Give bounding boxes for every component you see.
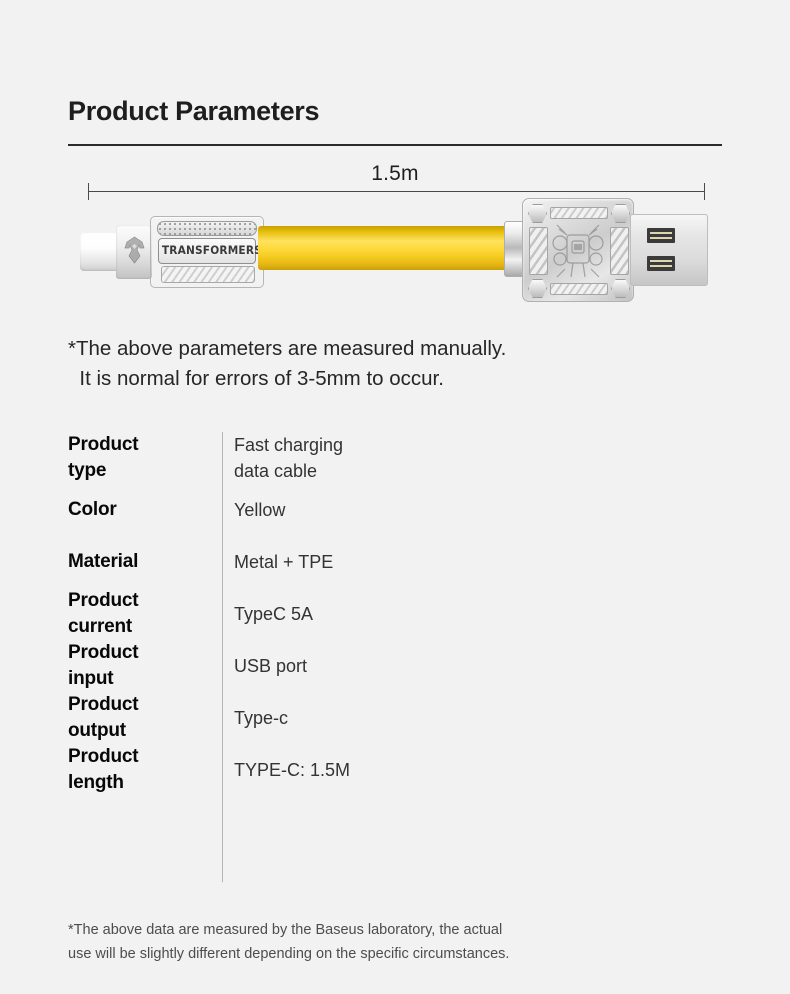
table-row: Product input USB port <box>68 640 688 692</box>
hex-bolt-bottom-right <box>611 279 630 298</box>
spec-label: Color <box>68 497 214 523</box>
table-row: Product length TYPE-C: 1.5M <box>68 744 688 796</box>
dimension-line <box>88 191 704 192</box>
dimension-label: 1.5m <box>0 162 790 186</box>
housing-top-bar <box>550 207 608 219</box>
usb-c-metal-barrel: TRANSFORMERS <box>150 216 264 288</box>
title-divider <box>68 144 722 146</box>
spec-label: Product type <box>68 432 214 484</box>
table-row: Material Metal + TPE <box>68 536 688 588</box>
housing-hatch-right <box>610 227 629 275</box>
housing-hatch-left <box>529 227 548 275</box>
spec-value: Metal + TPE <box>234 549 333 575</box>
cable-body <box>258 226 510 270</box>
table-row: Product type Fast charging data cable <box>68 432 688 484</box>
spec-label: Product output <box>68 692 214 744</box>
hex-bolt-bottom-left <box>528 279 547 298</box>
housing-bottom-bar <box>550 283 608 295</box>
spec-table: Product type Fast charging data cable Co… <box>68 432 688 796</box>
laboratory-footnote: *The above data are measured by the Base… <box>68 918 509 966</box>
usb-a-housing <box>522 198 634 302</box>
product-illustration: TRANSFORMERS <box>0 196 790 306</box>
measurement-disclaimer: *The above parameters are measured manua… <box>68 334 506 394</box>
spec-label: Product length <box>68 744 214 796</box>
page-title: Product Parameters <box>68 96 319 127</box>
spec-label: Product input <box>68 640 214 692</box>
usb-a-plug <box>630 214 708 286</box>
table-row: Product output Type-c <box>68 692 688 744</box>
hex-bolt-top-right <box>611 204 630 223</box>
brand-text: TRANSFORMERS <box>162 238 250 262</box>
spec-value: Yellow <box>234 497 285 523</box>
usb-a-contact-slot-bottom <box>647 256 675 271</box>
usb-a-contact-slot-top <box>647 228 675 243</box>
spec-value: USB port <box>234 653 307 679</box>
spec-label: Product current <box>68 588 214 640</box>
barrel-grill-texture <box>157 221 257 236</box>
autobot-logo-icon <box>122 236 147 265</box>
spec-value: TYPE-C: 1.5M <box>234 757 350 783</box>
spec-value: Type-c <box>234 705 288 731</box>
hex-bolt-top-left <box>528 204 547 223</box>
spec-value: TypeC 5A <box>234 601 313 627</box>
barrel-hatch-texture <box>161 266 255 283</box>
table-row: Product current TypeC 5A <box>68 588 688 640</box>
spec-label: Material <box>68 549 214 575</box>
table-row: Color Yellow <box>68 484 688 536</box>
transformers-robot-icon <box>549 219 607 281</box>
spec-value: Fast charging data cable <box>234 432 343 484</box>
